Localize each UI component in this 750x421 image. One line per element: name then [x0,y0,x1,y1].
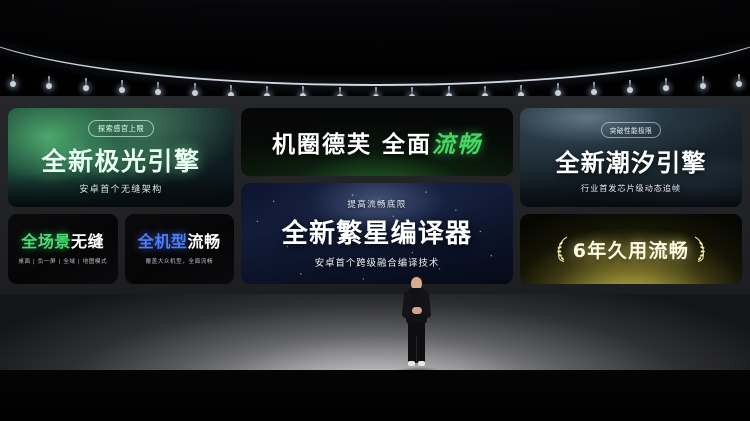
seamless-title-rest: 无缝 [71,232,104,251]
gold-badge-row: 6年久用流畅 [556,236,707,263]
presenter-hands [412,307,422,314]
presenter-left-shoe [408,361,415,366]
deck-column-middle: 机圈德芙 全面流畅 提高流畅底限 全新繁星编译器 安卓首个跨级融合编译技术 [241,108,513,284]
smooth-title-highlight: 全机型 [138,232,188,251]
gold-badge-text: 6年久用流畅 [573,236,690,263]
smooth-title-rest: 流畅 [188,232,221,251]
smooth-subtitle: 覆盖大众机型，全面流畅 [145,257,213,265]
aurora-subtitle: 安卓首个无缝架构 [79,182,162,195]
compiler-subtitle: 安卓首个跨级融合编译技术 [315,255,440,269]
compiler-lead: 提高流畅底限 [347,198,406,210]
stage-floor-spotlight [0,294,750,376]
compiler-title: 全新繁星编译器 [282,213,472,250]
slide-card-gold-badge: 6年久用流畅 [520,214,742,284]
slide-card-tide-engine: 突破性能极限 全新潮汐引擎 行业首发芯片级动态追帧 [520,108,742,207]
presenter-right-shoe [418,361,425,366]
presenter-legs [408,322,425,363]
keynote-stage-scene: 探索感官上限 全新极光引擎 安卓首个无缝架构 全场景无缝 桌面 | 负一屏 | … [0,0,750,421]
banner-title-accent: 流畅 [432,132,482,158]
seamless-title-highlight: 全场景 [21,232,71,251]
aurora-title: 全新极光引擎 [41,142,200,178]
laurel-wreath-left-icon [556,236,569,262]
smooth-title: 全机型流畅 [138,234,221,250]
slide-card-compiler: 提高流畅底限 全新繁星编译器 安卓首个跨级融合编译技术 [241,183,513,284]
deck-column-right: 突破性能极限 全新潮汐引擎 行业首发芯片级动态追帧 [520,108,742,284]
banner-title: 机圈德芙 全面流畅 [272,125,482,159]
slide-card-banner: 机圈德芙 全面流畅 [241,108,513,176]
seamless-subtitle: 桌面 | 负一屏 | 全域 | 地图模式 [18,257,107,265]
feature-card-row: 全场景无缝 桌面 | 负一屏 | 全域 | 地图模式 全机型流畅 覆盖大众机型，… [8,214,234,284]
presenter-right-arm [422,291,432,319]
presenter-figure [398,277,434,369]
stage-apron [0,370,750,421]
tide-subtitle: 行业首发芯片级动态追帧 [581,182,681,194]
ceiling-downlights [0,74,750,96]
aurora-badge: 探索感官上限 [88,120,154,137]
banner-title-main: 机圈德芙 全面 [272,132,432,158]
slide-card-smooth: 全机型流畅 覆盖大众机型，全面流畅 [125,214,235,284]
deck-column-left: 探索感官上限 全新极光引擎 安卓首个无缝架构 全场景无缝 桌面 | 负一屏 | … [8,108,234,284]
tide-badge: 突破性能极限 [601,122,662,138]
tide-title: 全新潮汐引擎 [555,143,706,178]
presentation-slide-deck: 探索感官上限 全新极光引擎 安卓首个无缝架构 全场景无缝 桌面 | 负一屏 | … [8,108,742,284]
slide-card-seamless: 全场景无缝 桌面 | 负一屏 | 全域 | 地图模式 [8,214,118,284]
slide-card-aurora-engine: 探索感官上限 全新极光引擎 安卓首个无缝架构 [8,108,234,207]
seamless-title: 全场景无缝 [21,234,104,250]
laurel-wreath-right-icon [693,236,706,262]
